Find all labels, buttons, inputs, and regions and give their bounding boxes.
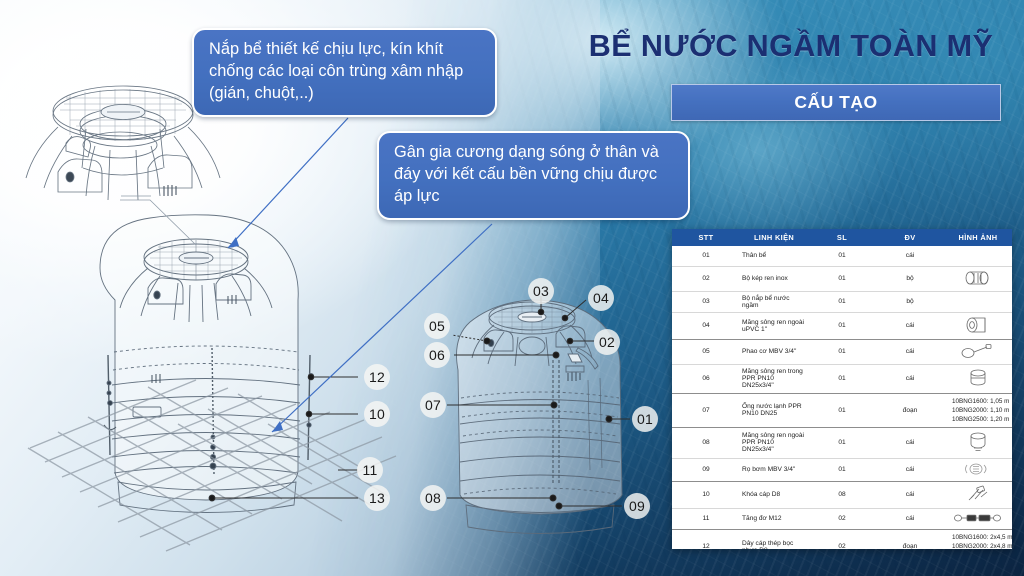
cell-image-text: 10BNG1600: 2x4,5 m10BNG2000: 2x4,8 m10BN…	[946, 533, 1010, 549]
cell-image	[944, 291, 1012, 312]
parts-table-header-row: STT LINH KIỆN SL ĐV HÌNH ẢNH	[672, 229, 1012, 246]
cell-stt: 01	[672, 246, 740, 266]
cell-part-name: Măng sông ren ngoài uPVC 1"	[740, 312, 808, 339]
cell-stt: 07	[672, 393, 740, 427]
parts-table-container: STT LINH KIỆN SL ĐV HÌNH ẢNH 01Thân bể01…	[672, 229, 1012, 549]
cell-quantity: 01	[808, 246, 876, 266]
table-row: 08Măng sông ren ngoài PPR PN10 DN25x3/4"…	[672, 427, 1012, 458]
cell-stt: 10	[672, 481, 740, 508]
cell-image-text: 10BNG1600: 1,05 m10BNG2000: 1,10 m10BNG2…	[946, 397, 1010, 424]
table-row: 02Bộ kép ren inox01bộ	[672, 266, 1012, 291]
cell-unit: cái	[876, 508, 944, 529]
cell-unit: cái	[876, 481, 944, 508]
diagram-label-12: 12	[364, 364, 390, 390]
col-header-image: HÌNH ẢNH	[944, 229, 1012, 246]
table-row: 06Măng sông ren trong PPR PN10 DN25x3/4"…	[672, 364, 1012, 393]
table-row: 01Thân bể01cái	[672, 246, 1012, 266]
float-valve-icon	[960, 343, 996, 359]
cell-image	[944, 246, 1012, 266]
diagram-label-04: 04	[588, 285, 614, 311]
section-banner-label: CẤU TẠO	[794, 92, 877, 113]
diagram-label-01: 01	[632, 406, 658, 432]
diagram-label-06: 06	[424, 342, 450, 368]
coupling-icon	[961, 270, 995, 286]
table-row: 12Dây cáp thép bọc nhựa D802đoạn10BNG160…	[672, 529, 1012, 549]
cell-stt: 06	[672, 364, 740, 393]
socket-icon	[964, 316, 992, 334]
cell-stt: 12	[672, 529, 740, 549]
col-header-stt: STT	[672, 229, 740, 246]
part-thumbnail-icon	[965, 485, 991, 505]
slide-root: 12 10 11 13 03 04 02 05 06 07 08 01 09 B…	[0, 0, 1024, 576]
parts-table-body: 01Thân bể01cái02Bộ kép ren inox01bộ03Bộ …	[672, 246, 1012, 549]
cell-image	[944, 312, 1012, 339]
table-row: 04Măng sông ren ngoài uPVC 1"01cái	[672, 312, 1012, 339]
table-row: 03Bộ nắp bể nước ngầm01bộ	[672, 291, 1012, 312]
cell-quantity: 01	[808, 393, 876, 427]
cell-quantity: 08	[808, 481, 876, 508]
cell-quantity: 01	[808, 312, 876, 339]
cell-image	[944, 481, 1012, 508]
cell-part-name: Rọ bơm MBV 3/4"	[740, 458, 808, 481]
cell-unit: cái	[876, 246, 944, 266]
cell-image	[944, 339, 1012, 364]
table-row: 09Rọ bơm MBV 3/4"01cái	[672, 458, 1012, 481]
cell-unit: cái	[876, 364, 944, 393]
table-row: 05Phao cơ MBV 3/4"01cái	[672, 339, 1012, 364]
diagram-label-09: 09	[624, 493, 650, 519]
cell-image	[944, 266, 1012, 291]
diagram-label-03: 03	[528, 278, 554, 304]
cell-stt: 05	[672, 339, 740, 364]
part-thumbnail-icon	[967, 368, 989, 390]
cell-image: 10BNG1600: 2x4,5 m10BNG2000: 2x4,8 m10BN…	[944, 529, 1012, 549]
cell-part-name: Ống nước lạnh PPR PN10 DN25	[740, 393, 808, 427]
parts-table-head: STT LINH KIỆN SL ĐV HÌNH ẢNH	[672, 229, 1012, 246]
diagram-label-13: 13	[364, 485, 390, 511]
table-row: 07Ống nước lạnh PPR PN10 DN2501đoạn10BNG…	[672, 393, 1012, 427]
page-title: BỂ NƯỚC NGẦM TOÀN MỸ	[575, 29, 1007, 64]
part-thumbnail-icon	[963, 462, 993, 478]
callout-bubble-lid: Nắp bể thiết kế chịu lực, kín khít chống…	[192, 28, 497, 117]
cell-image	[944, 508, 1012, 529]
callout-bubble-ribs: Gân gia cương dạng sóng ở thân và đáy vớ…	[377, 131, 690, 220]
part-thumbnail-icon	[953, 512, 1003, 526]
strainer-icon	[963, 462, 993, 476]
section-banner: CẤU TẠO	[671, 84, 1001, 121]
part-thumbnail-icon	[967, 431, 989, 455]
cell-part-name: Khóa cáp D8	[740, 481, 808, 508]
cell-unit: cái	[876, 312, 944, 339]
diagram-label-07: 07	[420, 392, 446, 418]
part-thumbnail-icon	[964, 316, 992, 336]
cell-unit: cái	[876, 339, 944, 364]
col-header-name: LINH KIỆN	[740, 229, 808, 246]
fitting-icon-2	[967, 431, 989, 453]
cell-part-name: Bộ kép ren inox	[740, 266, 808, 291]
cell-image: 10BNG1600: 1,05 m10BNG2000: 1,10 m10BNG2…	[944, 393, 1012, 427]
cell-part-name: Măng sông ren ngoài PPR PN10 DN25x3/4"	[740, 427, 808, 458]
part-thumbnail-icon	[961, 270, 995, 288]
cell-part-name: Dây cáp thép bọc nhựa D8	[740, 529, 808, 549]
cell-part-name: Tăng đơ M12	[740, 508, 808, 529]
cell-unit: bộ	[876, 291, 944, 312]
turnbuckle-icon	[953, 512, 1003, 524]
cell-quantity: 02	[808, 529, 876, 549]
cell-quantity: 02	[808, 508, 876, 529]
cell-part-name: Bộ nắp bể nước ngầm	[740, 291, 808, 312]
cell-unit: bộ	[876, 266, 944, 291]
cell-stt: 09	[672, 458, 740, 481]
cell-stt: 11	[672, 508, 740, 529]
cell-quantity: 01	[808, 364, 876, 393]
parts-table: STT LINH KIỆN SL ĐV HÌNH ẢNH 01Thân bể01…	[672, 229, 1012, 549]
cell-part-name: Măng sông ren trong PPR PN10 DN25x3/4"	[740, 364, 808, 393]
cell-stt: 08	[672, 427, 740, 458]
diagram-label-08: 08	[420, 485, 446, 511]
col-header-dv: ĐV	[876, 229, 944, 246]
col-header-sl: SL	[808, 229, 876, 246]
cell-unit: đoạn	[876, 393, 944, 427]
diagram-label-05: 05	[424, 313, 450, 339]
cell-quantity: 01	[808, 266, 876, 291]
cell-quantity: 01	[808, 458, 876, 481]
cell-image	[944, 458, 1012, 481]
cell-quantity: 01	[808, 427, 876, 458]
diagram-label-10: 10	[364, 401, 390, 427]
cell-quantity: 01	[808, 291, 876, 312]
cell-unit: cái	[876, 458, 944, 481]
cell-quantity: 01	[808, 339, 876, 364]
cell-stt: 03	[672, 291, 740, 312]
cell-image	[944, 427, 1012, 458]
table-row: 10Khóa cáp D808cái	[672, 481, 1012, 508]
cell-stt: 02	[672, 266, 740, 291]
cable-clamp-icon	[965, 485, 991, 503]
table-row: 11Tăng đơ M1202cái	[672, 508, 1012, 529]
cell-stt: 04	[672, 312, 740, 339]
fitting-icon	[967, 368, 989, 388]
cell-part-name: Thân bể	[740, 246, 808, 266]
diagram-label-11: 11	[357, 457, 383, 483]
cell-unit: cái	[876, 427, 944, 458]
part-thumbnail-icon	[960, 343, 996, 361]
cell-image	[944, 364, 1012, 393]
diagram-label-02: 02	[594, 329, 620, 355]
cell-part-name: Phao cơ MBV 3/4"	[740, 339, 808, 364]
cell-unit: đoạn	[876, 529, 944, 549]
